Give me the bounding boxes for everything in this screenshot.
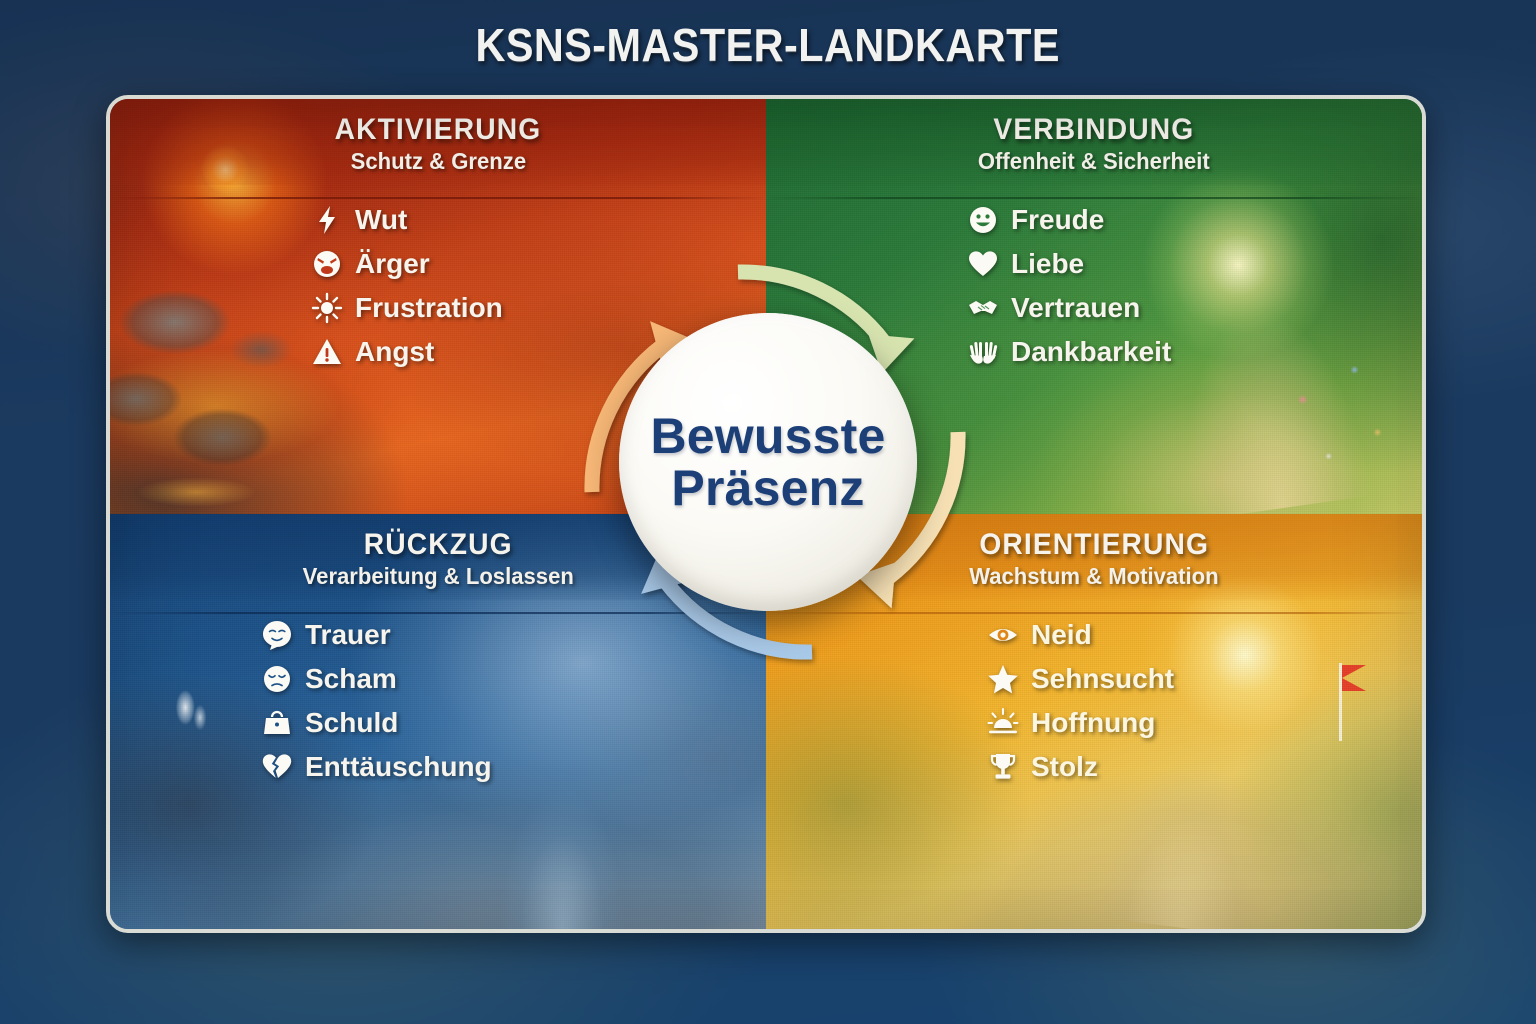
list-item-label: Scham (305, 663, 397, 695)
emotion-list-verbindung: Freude Liebe (966, 203, 1422, 369)
angry-face-icon (310, 247, 344, 281)
list-item-label: Wut (355, 204, 407, 236)
list-item[interactable]: Scham (260, 662, 766, 696)
bag-icon (260, 706, 294, 740)
list-item-label: Stolz (1031, 751, 1098, 783)
list-item[interactable]: Schuld (260, 706, 766, 740)
emotion-list-rueckzug: Trauer Scham (260, 618, 766, 784)
list-item[interactable]: Ärger (310, 247, 766, 281)
list-item[interactable]: Frustration (310, 291, 766, 325)
list-item[interactable]: Liebe (966, 247, 1422, 281)
heart-icon (966, 247, 1000, 281)
sun-burst-icon (310, 291, 344, 325)
sad-face-icon (260, 618, 294, 652)
list-item[interactable]: Freude (966, 203, 1422, 237)
list-item-label: Hoffnung (1031, 707, 1155, 739)
center-line-1: Bewusste (650, 410, 885, 462)
quadrant-subtitle: Schutz & Grenze (350, 148, 525, 175)
weary-face-icon (260, 662, 294, 696)
broken-heart-icon (260, 750, 294, 784)
list-item[interactable]: Neid (986, 618, 1422, 652)
quadrant-orientierung[interactable]: ORIENTIERUNG Wachstum & Motivation Neid (766, 514, 1422, 929)
list-item[interactable]: Wut (310, 203, 766, 237)
list-item-label: Neid (1031, 619, 1092, 651)
raising-hands-icon (966, 335, 1000, 369)
list-item-label: Schuld (305, 707, 398, 739)
quadrant-subtitle: Offenheit & Sicherheit (978, 148, 1210, 175)
list-item[interactable]: Enttäuschung (260, 750, 766, 784)
lava-rocks-illustration (110, 240, 326, 514)
quadrant-header-verbindung: VERBINDUNG Offenheit & Sicherheit (766, 99, 1422, 185)
list-item[interactable]: Trauer (260, 618, 766, 652)
list-item-label: Ärger (355, 248, 430, 280)
quadrant-header-aktivierung: AKTIVIERUNG Schutz & Grenze (110, 99, 766, 185)
page-title-wrapper: KSNS-MASTER-LANDKARTE (0, 18, 1536, 72)
list-item-label: Frustration (355, 292, 503, 324)
list-item[interactable]: Dankbarkeit (966, 335, 1422, 369)
lightning-bolt-icon (310, 203, 344, 237)
header-divider-rule (766, 197, 1422, 199)
header-divider-rule (110, 197, 766, 199)
snowdrop-flower-illustration (143, 655, 235, 780)
trophy-icon (986, 750, 1020, 784)
list-item-label: Sehnsucht (1031, 663, 1174, 695)
list-item[interactable]: Sehnsucht (986, 662, 1422, 696)
quadrant-title: RÜCKZUG (364, 528, 513, 562)
list-item-label: Vertrauen (1011, 292, 1140, 324)
eye-icon (986, 618, 1020, 652)
emotion-list-orientierung: Neid Sehnsucht (986, 618, 1422, 784)
header-divider-rule (766, 612, 1422, 614)
quadrant-title: VERBINDUNG (994, 113, 1195, 147)
quadrant-subtitle: Verarbeitung & Loslassen (302, 563, 573, 590)
page-title: KSNS-MASTER-LANDKARTE (476, 18, 1060, 72)
quadrant-title: AKTIVIERUNG (335, 113, 542, 147)
list-item-label: Dankbarkeit (1011, 336, 1171, 368)
center-circle[interactable]: Bewusste Präsenz (619, 313, 917, 611)
list-item-label: Angst (355, 336, 434, 368)
list-item-label: Trauer (305, 619, 391, 651)
center-line-2: Präsenz (671, 462, 864, 514)
quadrant-title: ORIENTIERUNG (979, 528, 1209, 562)
list-item-label: Freude (1011, 204, 1104, 236)
quadrant-subtitle: Wachstum & Motivation (969, 563, 1218, 590)
list-item[interactable]: Vertrauen (966, 291, 1422, 325)
list-item-label: Liebe (1011, 248, 1084, 280)
header-divider-rule (110, 612, 766, 614)
list-item[interactable]: Hoffnung (986, 706, 1422, 740)
sunrise-icon (986, 706, 1020, 740)
quadrant-rueckzug[interactable]: RÜCKZUG Verarbeitung & Loslassen Trauer (110, 514, 766, 929)
smiley-face-icon (966, 203, 1000, 237)
list-item[interactable]: Stolz (986, 750, 1422, 784)
warning-triangle-icon (310, 335, 344, 369)
list-item-label: Enttäuschung (305, 751, 492, 783)
star-icon (986, 662, 1020, 696)
handshake-icon (966, 291, 1000, 325)
